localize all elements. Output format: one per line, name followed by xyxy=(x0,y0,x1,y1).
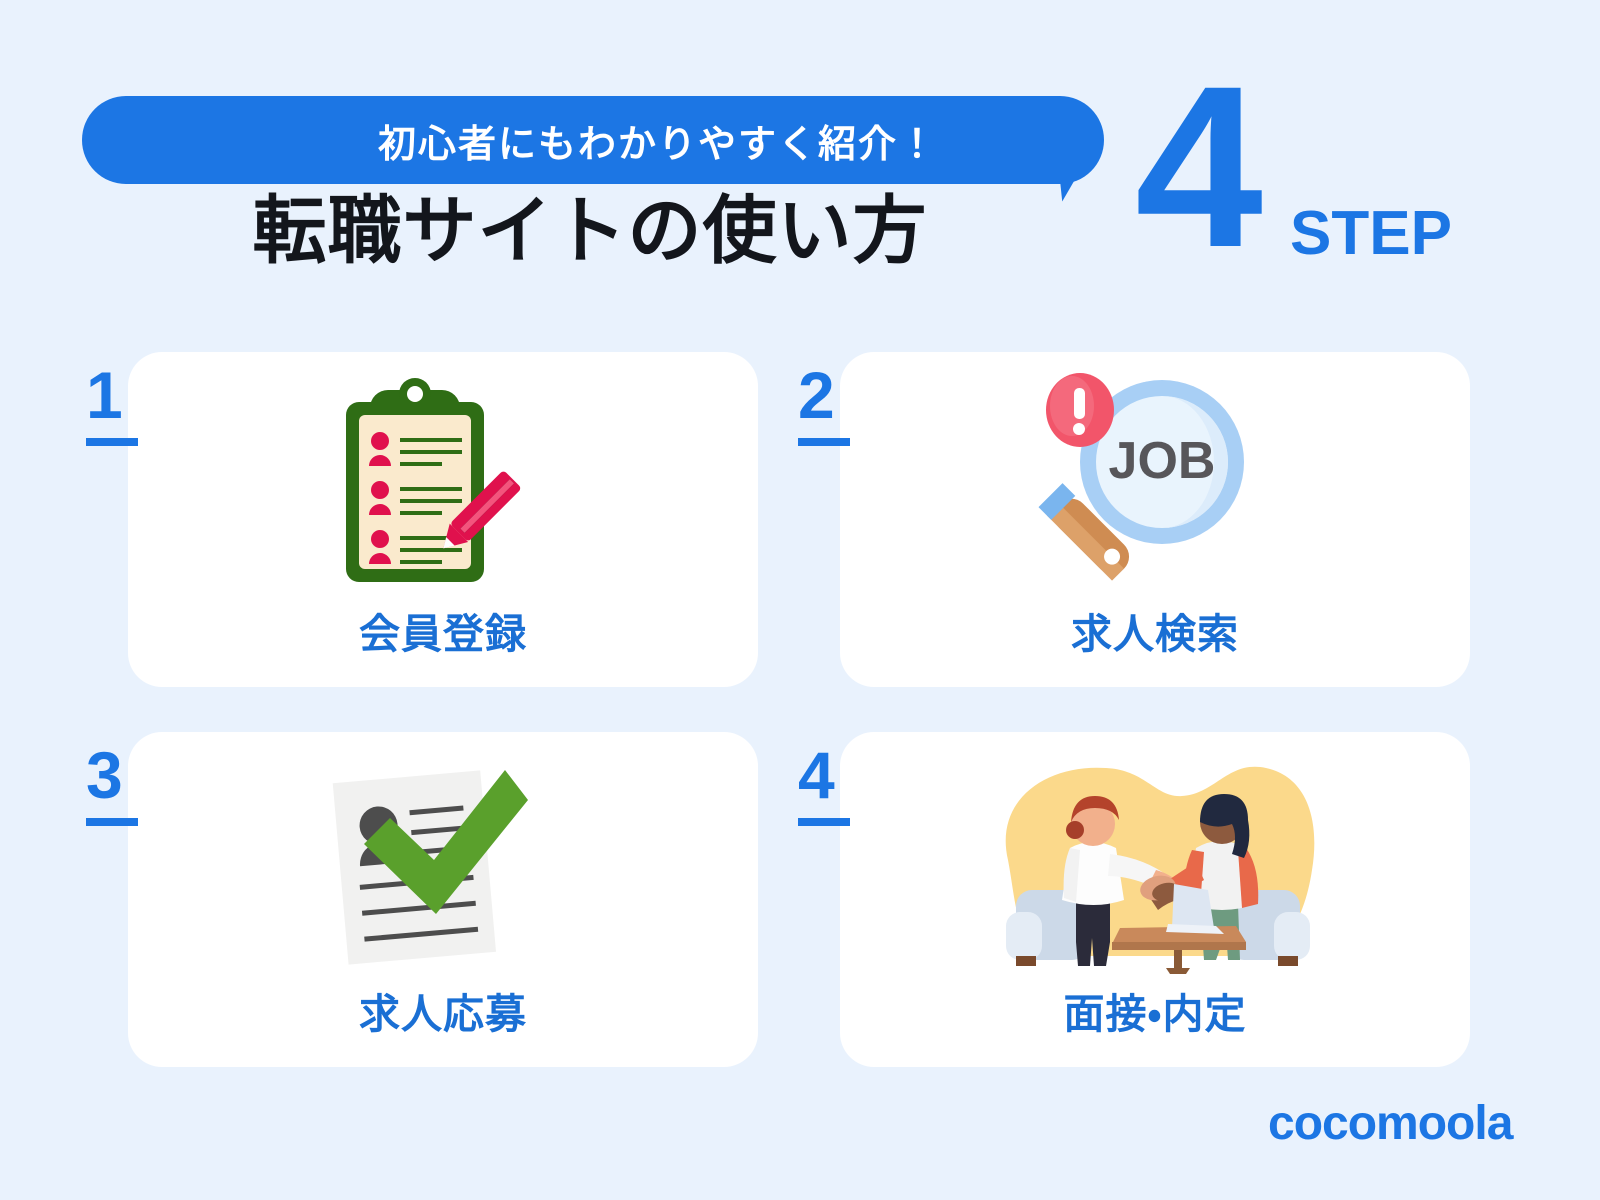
step-number-1: 1 xyxy=(86,362,156,428)
step-number-2: 2 xyxy=(798,362,868,428)
step-label-3: 求人応募 xyxy=(128,980,758,1040)
cocomoola-logo[interactable]: cocomoola xyxy=(1268,1098,1548,1150)
clipboard-checklist-pencil-icon xyxy=(310,368,560,593)
magnifying-glass-job-icon: JOB xyxy=(1010,362,1270,594)
step-label-1: 会員登録 xyxy=(128,600,758,660)
magnifier-job-text: JOB xyxy=(1109,432,1216,490)
infographic-poster: 初心者にもわかりやすく紹介！ 転職サイトの使い方 4 STEP 1 xyxy=(0,0,1600,1200)
step-number-4: 4 xyxy=(798,742,868,808)
handshake-interview-illustration xyxy=(960,752,1340,974)
step-label-4: 面接・内定 xyxy=(840,980,1470,1040)
step-number-3: 3 xyxy=(86,742,156,808)
logo-text: cocomoola xyxy=(1268,1098,1514,1150)
steps-grid: 1 xyxy=(0,0,1600,1200)
step-label-2: 求人検索 xyxy=(840,600,1470,660)
resume-document-check-icon xyxy=(300,748,550,970)
